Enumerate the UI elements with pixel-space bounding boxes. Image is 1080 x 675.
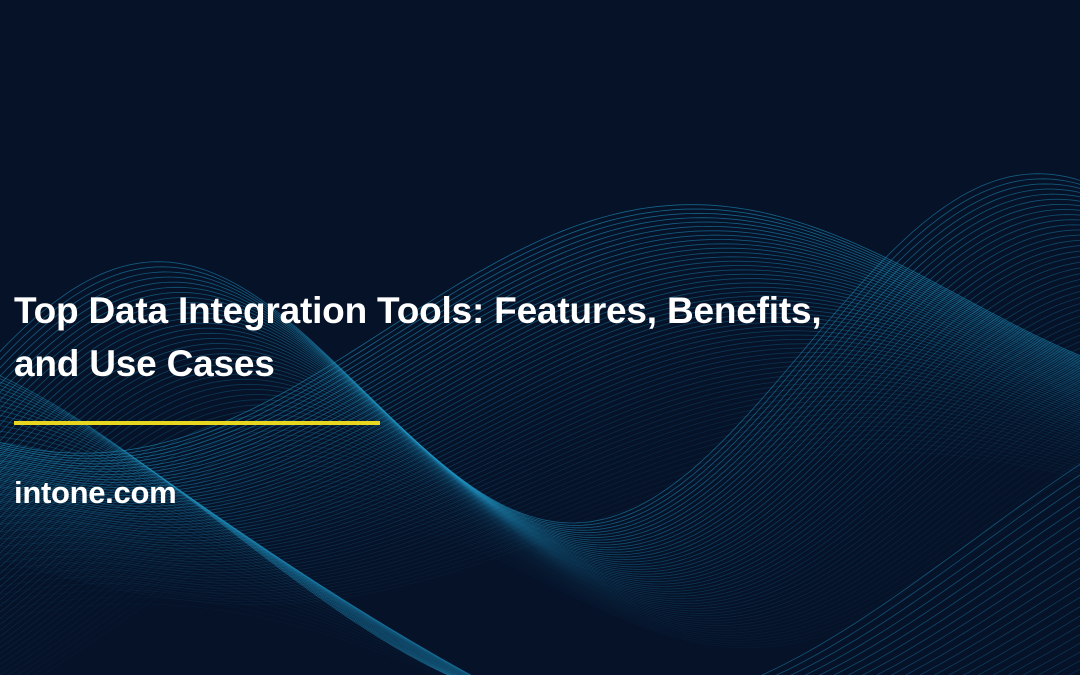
- site-url-label: intone.com: [14, 475, 176, 511]
- accent-divider: [14, 421, 380, 425]
- content-layer: Top Data Integration Tools: Features, Be…: [0, 0, 1080, 675]
- social-card: Top Data Integration Tools: Features, Be…: [0, 0, 1080, 675]
- page-title: Top Data Integration Tools: Features, Be…: [14, 284, 894, 390]
